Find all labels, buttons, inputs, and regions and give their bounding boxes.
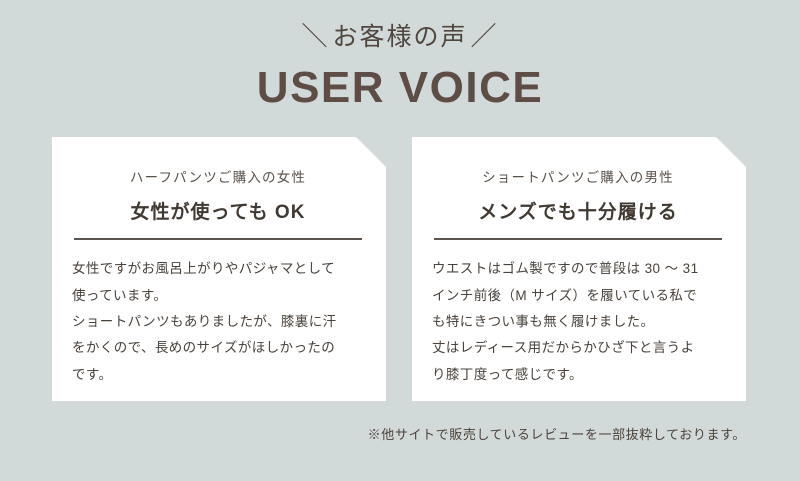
body-line: インチ前後（M サイズ）を履いている私で: [432, 283, 724, 309]
section-header: ＼お客様の声／ USER VOICE: [0, 0, 800, 110]
decorative-slash-left: ＼: [298, 24, 332, 50]
body-line: 使っています。: [72, 283, 364, 309]
eyebrow-heading: ＼お客様の声／: [0, 24, 800, 50]
body-line: 女性ですがお風呂上がりやパジャマとして: [72, 256, 364, 282]
card-heading: メンズでも十分履ける: [432, 202, 724, 225]
body-line: をかくので、長めのサイズがほしかったの: [72, 335, 364, 361]
testimonial-card-list: ハーフパンツご購入の女性 女性が使っても OK 女性ですがお風呂上がりやパジャマ…: [52, 137, 746, 401]
card-divider: [434, 238, 722, 240]
testimonial-card-women: ハーフパンツご購入の女性 女性が使っても OK 女性ですがお風呂上がりやパジャマ…: [52, 137, 386, 401]
body-line: 丈はレディース用だからかひざ下と言うよ: [432, 335, 724, 361]
testimonial-card-men: ショートパンツご購入の男性 メンズでも十分履ける ウエストはゴム製ですので普段は…: [412, 137, 746, 401]
body-line: です。: [72, 362, 364, 388]
body-line: ショートパンツもありましたが、膝裏に汗: [72, 309, 364, 335]
card-heading: 女性が使っても OK: [72, 202, 364, 225]
decorative-slash-right: ／: [468, 24, 502, 50]
body-line: り膝丁度って感じです。: [432, 362, 724, 388]
card-divider: [74, 238, 362, 240]
card-label: ハーフパンツご購入の女性: [72, 171, 364, 185]
footnote-text: ※他サイトで販売しているレビューを一部抜粋しております。: [368, 428, 746, 441]
user-voice-section: ＼お客様の声／ USER VOICE ハーフパンツご購入の女性 女性が使っても …: [0, 0, 800, 481]
page-title: USER VOICE: [0, 66, 800, 110]
card-body: 女性ですがお風呂上がりやパジャマとして 使っています。 ショートパンツもありまし…: [72, 256, 364, 388]
body-line: も特にきつい事も無く履けました。: [432, 309, 724, 335]
eyebrow-label: お客様の声: [332, 24, 467, 51]
card-body: ウエストはゴム製ですので普段は 30 〜 31 インチ前後（M サイズ）を履いて…: [432, 256, 724, 388]
card-label: ショートパンツご購入の男性: [432, 171, 724, 185]
body-line: ウエストはゴム製ですので普段は 30 〜 31: [432, 256, 724, 282]
